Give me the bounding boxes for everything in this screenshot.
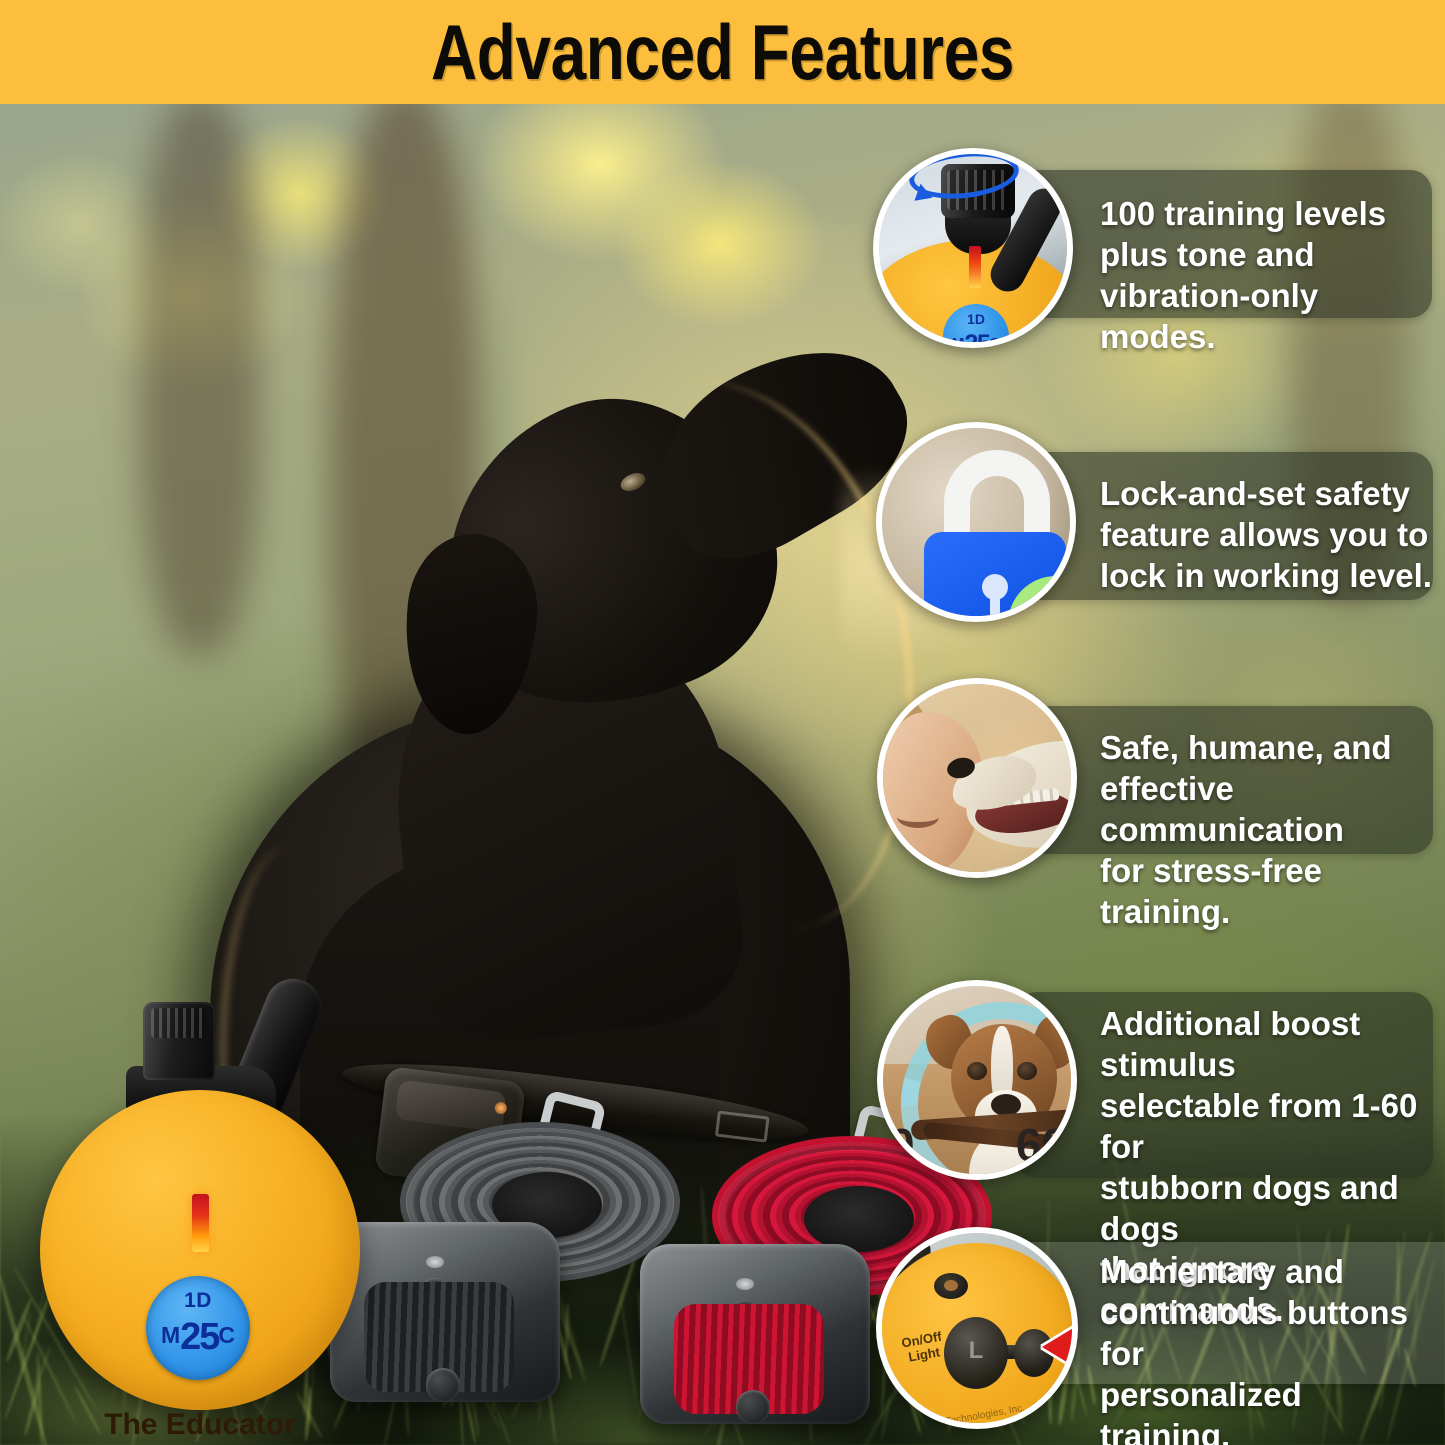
remote-charge-port bbox=[934, 1273, 968, 1299]
lcd-level-value: 25 bbox=[964, 330, 989, 348]
receiver-housing bbox=[640, 1244, 870, 1424]
lcd-mode-left: M bbox=[161, 1322, 180, 1348]
gauge-min-label: 0 bbox=[889, 1118, 915, 1172]
lcd-top-value: 1D bbox=[943, 311, 1009, 327]
feature-text-safe-humane: Safe, humane, and effective communicatio… bbox=[1100, 728, 1440, 933]
header-banner: Advanced Features bbox=[0, 0, 1445, 104]
terrier-eye-left bbox=[967, 1062, 987, 1080]
feature-text-momentary-continuous: Momentary and continuous buttons for per… bbox=[1100, 1252, 1440, 1445]
continuous-button bbox=[944, 1317, 1008, 1389]
remote-lcd-display: 1D M25C bbox=[146, 1276, 250, 1380]
product-scene: 1D M25C The Educator 100 training levels… bbox=[0, 104, 1445, 1445]
feature-text-training-levels: 100 training levels plus tone and vibrat… bbox=[1100, 194, 1430, 358]
feature-badge-boost-stimulus: 0 60 bbox=[877, 980, 1077, 1180]
remote-body: 1D M25C The Educator bbox=[40, 1090, 360, 1410]
lcd-mode-left: M bbox=[952, 335, 965, 348]
remote-brand-label: The Educator bbox=[40, 1408, 360, 1442]
terrier-eye-right bbox=[1017, 1062, 1037, 1080]
lcd-main-row: M25C bbox=[146, 1316, 250, 1359]
product-group: 1D M25C The Educator bbox=[0, 864, 880, 1444]
page-title: Advanced Features bbox=[431, 7, 1014, 98]
receiver-screw bbox=[736, 1390, 770, 1424]
feature-badge-training-levels: 1D M25C bbox=[873, 148, 1073, 348]
remote-transmitter: 1D M25C The Educator bbox=[40, 994, 370, 1414]
feature-badge-safe-humane bbox=[877, 678, 1077, 878]
remote-lcd-display: 1D M25C bbox=[943, 304, 1009, 348]
lcd-mode-right: C bbox=[218, 1322, 235, 1348]
feature-badge-lock-and-set bbox=[876, 422, 1076, 622]
feature-text-lock-and-set: Lock-and-set safety feature allows you t… bbox=[1100, 474, 1435, 597]
remote-led-indicator bbox=[969, 246, 981, 288]
receiver-indicator-icon bbox=[736, 1278, 754, 1290]
woman-smile bbox=[897, 806, 939, 828]
infographic-page: Advanced Features bbox=[0, 0, 1445, 1445]
lcd-level-value: 25 bbox=[180, 1316, 218, 1358]
remote-led-indicator bbox=[192, 1194, 209, 1252]
gauge-max-label: 60 bbox=[1016, 1118, 1067, 1172]
feature-badge-momentary-continuous: On/Off Light E-Collar Technologies, Inc.… bbox=[876, 1227, 1078, 1429]
remote-dial-knob bbox=[143, 1002, 215, 1080]
receiver-indicator-icon bbox=[426, 1256, 444, 1268]
receiver-screw bbox=[426, 1368, 460, 1402]
lcd-top-value: 1D bbox=[146, 1289, 250, 1313]
padlock-keyhole-icon bbox=[982, 574, 1008, 600]
